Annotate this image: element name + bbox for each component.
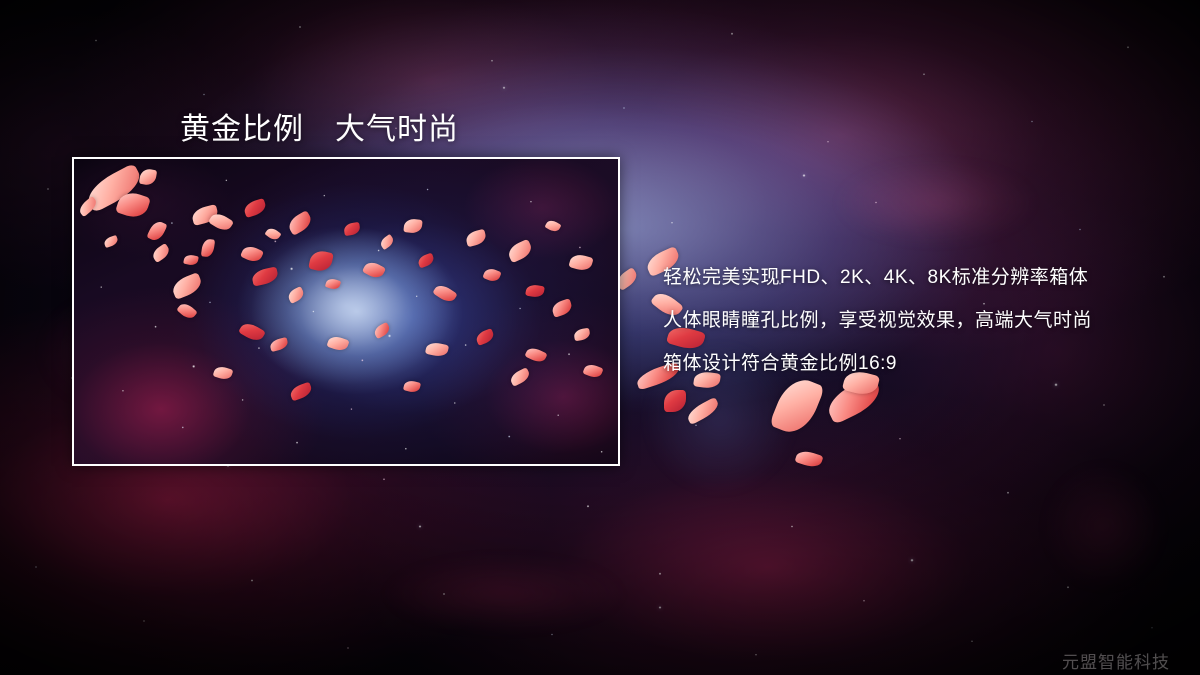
body-text-block: 轻松完美实现FHD、2K、4K、8K标准分辨率箱体 人体眼睛瞳孔比例，享受视觉效… — [663, 256, 1092, 385]
image-frame — [72, 157, 620, 466]
presentation-slide: 黄金比例 大气时尚 轻松完美实现FHD、2K、4K、8K标准分辨率箱体 人体眼睛… — [0, 0, 1200, 675]
watermark: 元盟智能科技 — [1062, 648, 1170, 673]
body-line-2: 人体眼睛瞳孔比例，享受视觉效果，高端大气时尚 — [663, 299, 1092, 342]
body-line-3: 箱体设计符合黄金比例16:9 — [663, 342, 1092, 385]
slide-title: 黄金比例 大气时尚 — [180, 104, 459, 148]
body-line-1: 轻松完美实现FHD、2K、4K、8K标准分辨率箱体 — [663, 256, 1092, 299]
framed-starfield-layer-far — [74, 159, 618, 464]
